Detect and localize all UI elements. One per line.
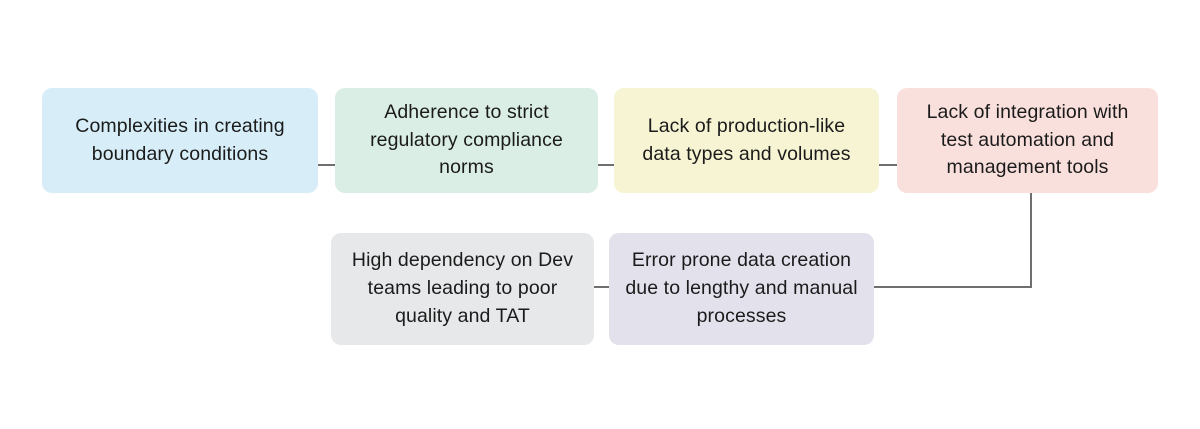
diagram-canvas: Complexities in creating boundary condit… [0,0,1200,429]
node-label: Error prone data creation due to lengthy… [623,247,860,330]
node-label: Lack of integration with test automation… [911,99,1144,182]
connector-3-to-4 [879,164,898,166]
node-label: Complexities in creating boundary condit… [56,113,304,168]
node-high-dependency-dev-teams[interactable]: High dependency on Dev teams leading to … [331,233,594,345]
node-label: Lack of production-like data types and v… [628,113,865,168]
connector-4-down [1030,193,1032,288]
node-regulatory-compliance[interactable]: Adherence to strict regulatory complianc… [335,88,598,193]
node-production-like-data[interactable]: Lack of production-like data types and v… [614,88,879,193]
connector-6-to-5 [594,286,610,288]
node-integration-test-automation[interactable]: Lack of integration with test automation… [897,88,1158,193]
node-error-prone-data-creation[interactable]: Error prone data creation due to lengthy… [609,233,874,345]
connector-2-to-3 [598,164,615,166]
node-label: High dependency on Dev teams leading to … [345,247,580,330]
connector-1-to-2 [318,164,336,166]
connector-down-to-6 [874,286,1032,288]
node-label: Adherence to strict regulatory complianc… [349,99,584,182]
node-complexities-boundary-conditions[interactable]: Complexities in creating boundary condit… [42,88,318,193]
